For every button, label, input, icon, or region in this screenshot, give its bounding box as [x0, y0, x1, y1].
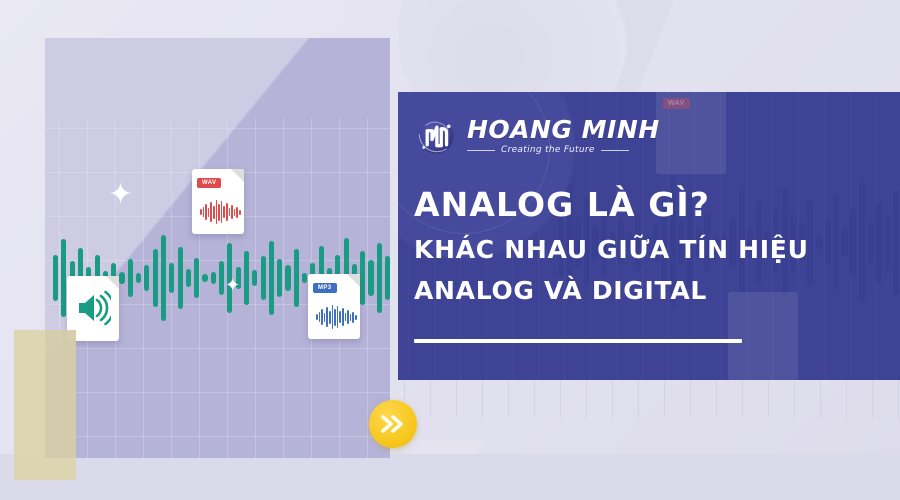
brand-wordmark: HOANG MINH Creating the Future [467, 117, 660, 155]
ghost-grid-line [716, 378, 717, 418]
next-button[interactable] [369, 400, 417, 448]
waveform-bar [334, 309, 336, 326]
ghost-grid-line [768, 378, 769, 418]
waveform-bar [153, 249, 158, 307]
waveform-bar [219, 261, 224, 295]
ghost-grid-line [638, 378, 639, 418]
ghost-grid-line [508, 378, 509, 418]
ghost-grid-line [872, 378, 873, 418]
background-ghost-grid [398, 378, 900, 500]
subtitle-line-1: KHÁC NHAU GIỮA TÍN HIỆU [414, 235, 809, 264]
waveform-bar [239, 210, 241, 215]
page-fold-icon [231, 169, 244, 182]
waveform-bar [355, 315, 357, 320]
waveform-bar [161, 235, 166, 321]
file-badge-wav: WAV [197, 178, 221, 188]
waveform-bar [321, 309, 323, 325]
file-card-mp3: MP3 [308, 274, 360, 339]
waveform-bar [203, 207, 205, 217]
ghost-grid-line [846, 378, 847, 418]
waveform-icon [308, 304, 360, 330]
brand-name: HOANG MINH [467, 117, 660, 142]
brand-tagline: Creating the Future [501, 146, 595, 155]
waveform-bar [277, 259, 282, 297]
waveform-bar [319, 312, 321, 322]
waveform-bar [205, 204, 207, 220]
waveform-bar [186, 269, 191, 287]
title-divider [414, 339, 742, 343]
waveform-bar [178, 247, 183, 309]
ghost-grid-line [664, 378, 665, 418]
waveform-bar [144, 265, 149, 291]
waveform-bar [53, 255, 58, 301]
waveform-bar [218, 204, 220, 221]
waveform-bar [352, 312, 354, 323]
brand-logo: HOANG MINH Creating the Future [414, 114, 660, 158]
tagline-rule-left [467, 150, 495, 151]
waveform-bar [221, 201, 223, 223]
ghost-grid-line [690, 378, 691, 418]
tagline-rule-right [601, 150, 629, 151]
waveform-bar [269, 241, 274, 315]
waveform-bar [329, 311, 331, 324]
ghost-grid-line [820, 378, 821, 418]
waveform-bar [368, 260, 373, 296]
waveform-bar [339, 311, 341, 323]
waveform-bar [229, 208, 231, 216]
waveform-bar [252, 270, 257, 286]
ghost-grid-line [794, 378, 795, 418]
waveform-bar [347, 310, 349, 324]
panel-content: HOANG MINH Creating the Future ANALOG LÀ… [414, 92, 900, 380]
waveform-bar [377, 243, 382, 313]
waveform-bar [128, 259, 133, 297]
waveform-bar [194, 258, 199, 298]
waveform-bar [216, 200, 218, 224]
double-chevron-right-icon [380, 414, 406, 434]
waveform-bar [231, 205, 233, 219]
decor-block-khaki-overlap [45, 330, 76, 458]
waveform-bar [326, 307, 328, 327]
waveform-bar [226, 203, 228, 221]
waveform-bar [294, 249, 299, 307]
waveform-bar [200, 209, 202, 215]
ghost-grid-line [742, 378, 743, 418]
waveform-bar [208, 208, 210, 217]
grid-line-horizontal [45, 128, 390, 129]
waveform-bar [223, 206, 225, 218]
speaker-volume-icon [77, 288, 111, 328]
waveform-bar [302, 273, 307, 283]
grid-line-horizontal [45, 436, 390, 437]
waveform-bar [285, 265, 290, 291]
ghost-grid-line [534, 378, 535, 418]
waveform-bar [332, 305, 334, 329]
waveform-bar [360, 251, 365, 305]
file-card-wav: WAV [192, 169, 244, 234]
waveform-bar [136, 273, 141, 283]
waveform-bar [169, 263, 174, 293]
waveform-bar [316, 314, 318, 320]
ghost-grid-line [586, 378, 587, 418]
waveform-bar [213, 206, 215, 219]
waveform-bar [261, 256, 266, 300]
waveform-bar [385, 256, 390, 300]
ghost-grid-line [430, 378, 431, 418]
title-panel: WAV [398, 92, 900, 380]
waveform-bar [202, 274, 207, 282]
waveform-bar [342, 308, 344, 326]
ghost-grid-line [560, 378, 561, 418]
brand-tagline-row: Creating the Future [467, 146, 660, 155]
subtitle-line-2: ANALOG VÀ DIGITAL [414, 276, 707, 305]
waveform-bar [210, 202, 212, 222]
sparkle-small-icon: ✦ [225, 276, 240, 294]
audio-illustration: ✦ ✦ WAV MP3 [45, 38, 390, 458]
ghost-grid-line [898, 378, 899, 418]
waveform-bar [211, 272, 216, 284]
waveform-icon [192, 199, 244, 225]
ghost-grid-line [456, 378, 457, 418]
ghost-grid-line [612, 378, 613, 418]
banner-canvas: ✦ ✦ WAV MP3 [0, 0, 900, 500]
waveform-bar [61, 239, 66, 317]
waveform-bar [345, 313, 347, 321]
file-badge-mp3: MP3 [313, 283, 337, 293]
waveform-bar [337, 306, 339, 328]
page-fold-icon [347, 274, 360, 287]
page-title: ANALOG LÀ GÌ? [414, 185, 710, 224]
waveform-bar [324, 313, 326, 322]
waveform-bar [119, 272, 124, 284]
hoang-minh-monogram-icon [414, 114, 458, 158]
ghost-grid-line [482, 378, 483, 418]
grid-line-horizontal [45, 392, 390, 393]
sparkle-large-icon: ✦ [108, 180, 133, 210]
waveform-bar [234, 209, 236, 216]
waveform-bar [350, 314, 352, 321]
waveform-bar [236, 207, 238, 218]
waveform-bar [244, 251, 249, 305]
